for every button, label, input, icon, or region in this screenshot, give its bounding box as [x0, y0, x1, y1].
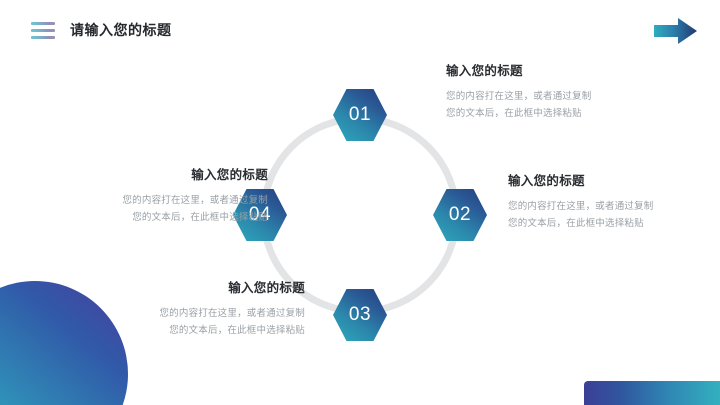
text-block-02: 输入您的标题 您的内容打在这里，或者通过复制 您的文本后，在此框中选择粘贴	[508, 172, 720, 232]
block-body-line1-01: 您的内容打在这里，或者通过复制	[446, 88, 661, 105]
text-block-04: 输入您的标题 您的内容打在这里，或者通过复制 您的文本后，在此框中选择粘贴	[53, 166, 268, 226]
arrow-right-icon[interactable]	[654, 17, 698, 45]
block-body-line2-01: 您的文本后，在此框中选择粘贴	[446, 105, 661, 122]
hexagon-label-01: 01	[349, 104, 371, 126]
block-body-line1-03: 您的内容打在这里，或者通过复制	[90, 305, 305, 322]
text-block-01: 输入您的标题 您的内容打在这里，或者通过复制 您的文本后，在此框中选择粘贴	[446, 62, 661, 122]
block-title-01: 输入您的标题	[446, 62, 661, 80]
slide-header: 请输入您的标题	[0, 0, 720, 60]
text-block-03: 输入您的标题 您的内容打在这里，或者通过复制 您的文本后，在此框中选择粘贴	[90, 279, 305, 339]
block-body-line2-04: 您的文本后，在此框中选择粘贴	[53, 209, 268, 226]
slide-canvas: 请输入您的标题 01 02 03 04 输入您的标题	[0, 0, 720, 405]
block-title-02: 输入您的标题	[508, 172, 720, 190]
menu-line-2	[31, 29, 55, 32]
block-title-04: 输入您的标题	[53, 166, 268, 184]
hamburger-menu-icon[interactable]	[31, 22, 55, 39]
menu-line-1	[31, 22, 55, 25]
menu-line-3	[31, 36, 55, 39]
hexagon-label-02: 02	[449, 204, 471, 226]
block-body-line2-03: 您的文本后，在此框中选择粘贴	[90, 322, 305, 339]
hexagon-label-03: 03	[349, 304, 371, 326]
block-body-line2-02: 您的文本后，在此框中选择粘贴	[508, 215, 720, 232]
page-title: 请输入您的标题	[70, 20, 172, 40]
decorative-bar-bottom-right	[584, 381, 720, 405]
block-body-line1-04: 您的内容打在这里，或者通过复制	[53, 192, 268, 209]
block-body-line1-02: 您的内容打在这里，或者通过复制	[508, 198, 720, 215]
block-title-03: 输入您的标题	[90, 279, 305, 297]
